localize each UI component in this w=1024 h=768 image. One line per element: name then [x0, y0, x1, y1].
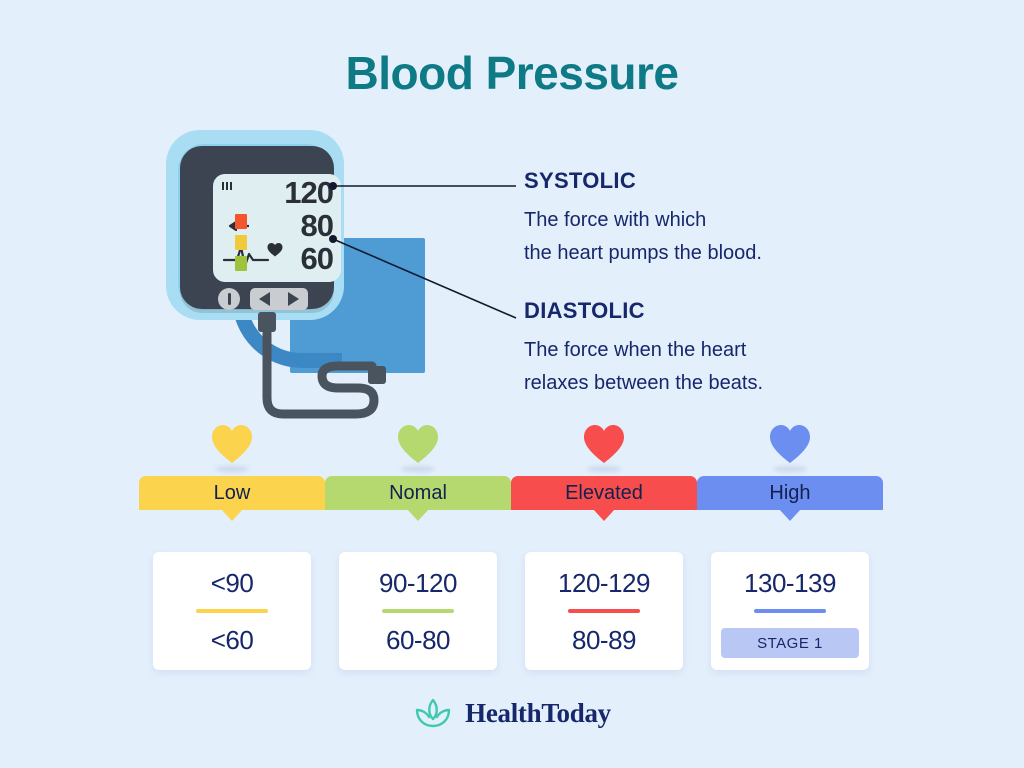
definition-diastolic-line1: The force when the heart [524, 334, 763, 367]
category-card-low[interactable]: Low <90 <60 [139, 424, 325, 674]
card-diastolic-low: <60 [153, 613, 311, 656]
card-banner-elevated: Elevated [511, 476, 697, 510]
signal-bars-icon [222, 182, 232, 190]
category-card-normal[interactable]: Nomal 90-120 60-80 [325, 424, 511, 674]
reading-systolic: 120 [249, 176, 333, 209]
category-card-high[interactable]: High 130-139 80-89 STAGE 1 [697, 424, 883, 674]
card-values-elevated: 120-129 80-89 [525, 552, 683, 656]
card-systolic-high: 130-139 [711, 552, 869, 599]
card-banner-high: High [697, 476, 883, 510]
card-values-normal: 90-120 60-80 [339, 552, 497, 656]
infographic-canvas: Blood Pressure [0, 0, 1024, 768]
device-button-row [218, 288, 308, 310]
device-body: 120 80 60 [180, 146, 334, 309]
card-systolic-elevated: 120-129 [525, 552, 683, 599]
previous-button-icon[interactable] [259, 292, 270, 306]
indicator-chips [235, 214, 247, 277]
heart-shadow [401, 466, 435, 472]
card-label-low: Low [214, 482, 251, 505]
tube-connector-cuff [368, 366, 386, 384]
card-diastolic-elevated: 80-89 [525, 613, 683, 656]
banner-notch [407, 509, 429, 521]
banner-notch [593, 509, 615, 521]
brand-name: HealthToday [465, 698, 611, 729]
definition-diastolic-line2: relaxes between the beats. [524, 367, 763, 400]
heart-icon [211, 424, 253, 464]
card-label-high: High [769, 482, 810, 505]
card-banner-low: Low [139, 476, 325, 510]
card-systolic-low: <90 [153, 552, 311, 599]
reading-diastolic: 80 [249, 209, 333, 242]
indicator-chip-red [235, 214, 247, 229]
navigation-buttons[interactable] [250, 288, 308, 310]
card-banner-normal: Nomal [325, 476, 511, 510]
banner-notch [221, 509, 243, 521]
heart-icon [769, 424, 811, 464]
tube-connector-device [258, 312, 276, 332]
lotus-icon [413, 697, 453, 729]
reading-pulse: 60 [249, 242, 333, 275]
device-screen: 120 80 60 [213, 174, 341, 282]
definition-systolic-line2: the heart pumps the blood. [524, 237, 762, 270]
card-systolic-normal: 90-120 [339, 552, 497, 599]
heart-shadow [773, 466, 807, 472]
definition-systolic-body: The force with which the heart pumps the… [524, 204, 762, 270]
definition-diastolic: DIASTOLIC The force when the heart relax… [524, 298, 763, 400]
status-badge-stage: STAGE 1 [721, 628, 859, 658]
indicator-chip-green [235, 256, 247, 271]
blood-pressure-monitor: 120 80 60 [160, 130, 460, 430]
page-title: Blood Pressure [0, 46, 1024, 100]
heart-icon [397, 424, 439, 464]
heart-shadow [587, 466, 621, 472]
heart-icon [583, 424, 625, 464]
power-button[interactable] [218, 288, 240, 310]
definition-systolic-line1: The force with which [524, 204, 762, 237]
definition-diastolic-body: The force when the heart relaxes between… [524, 334, 763, 400]
indicator-chip-yellow [235, 235, 247, 250]
category-card-elevated[interactable]: Elevated 120-129 80-89 [511, 424, 697, 674]
definition-systolic-heading: SYSTOLIC [524, 168, 762, 194]
card-label-elevated: Elevated [565, 482, 643, 505]
heart-shadow [215, 466, 249, 472]
definition-diastolic-heading: DIASTOLIC [524, 298, 763, 324]
banner-notch [779, 509, 801, 521]
card-values-low: <90 <60 [153, 552, 311, 656]
next-button-icon[interactable] [288, 292, 299, 306]
card-diastolic-normal: 60-80 [339, 613, 497, 656]
screen-readings: 120 80 60 [249, 176, 333, 275]
category-cards: Low <90 <60 Nomal 90-120 60-8 [0, 424, 1024, 674]
card-label-normal: Nomal [389, 482, 447, 505]
footer-logo: HealthToday [0, 697, 1024, 729]
definition-systolic: SYSTOLIC The force with which the heart … [524, 168, 762, 270]
